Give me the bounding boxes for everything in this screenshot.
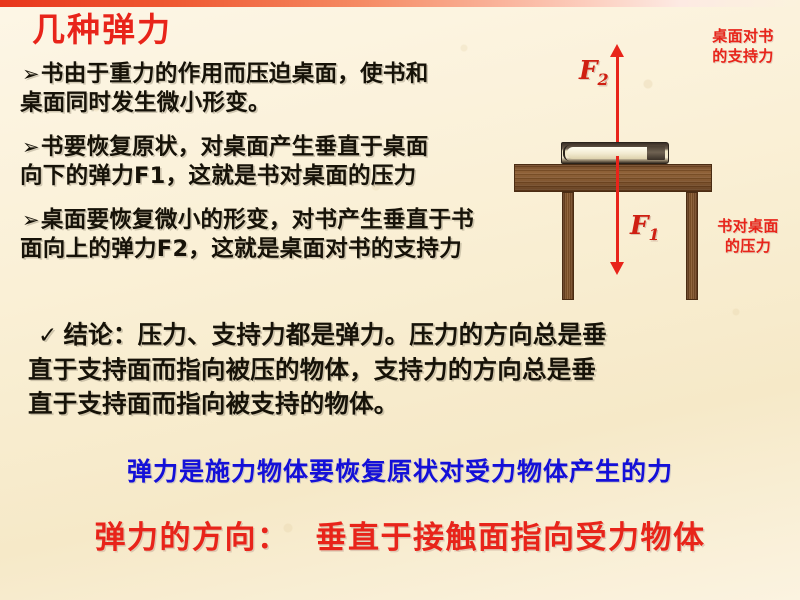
- slide-canvas: 几种弹力 ➢书由于重力的作用而压迫桌面，使书和 桌面同时发生微小形变。 ➢书要恢…: [0, 0, 800, 600]
- page-title: 几种弹力: [32, 12, 172, 48]
- bullet-text-line: 书要恢复原状，对桌面产生垂直于桌面: [41, 134, 429, 160]
- book-pages: [567, 147, 659, 159]
- book-on-table-diagram: 桌面对书 的支持力 书对桌面 的压力 F2 F1: [500, 8, 800, 300]
- list-item: ➢书由于重力的作用而压迫桌面，使书和 桌面同时发生微小形变。: [22, 60, 532, 118]
- support-force-label: 桌面对书 的支持力: [688, 26, 798, 66]
- table-leg-left: [562, 192, 574, 300]
- bullet-text-line: 面向上的弹力F2，这就是桌面对书的支持力: [20, 235, 532, 264]
- force-up-arrow-head-icon: [610, 44, 624, 57]
- bullet-arrow-icon: ➢: [22, 62, 40, 86]
- force-down-symbol: F: [630, 211, 648, 241]
- bullet-text-line: 书由于重力的作用而压迫桌面，使书和: [41, 61, 429, 87]
- bullet-list: ➢书由于重力的作用而压迫桌面，使书和 桌面同时发生微小形变。 ➢书要恢复原状，对…: [22, 60, 532, 279]
- force-up-symbol: F: [579, 56, 597, 86]
- red-statement-value: 垂直于接触面指向受力物体: [316, 520, 706, 556]
- force-down-arrow-head-icon: [610, 262, 624, 275]
- book-illustration: [561, 142, 669, 164]
- force-down-arrow-shaft: [616, 156, 619, 266]
- conclusion-line: 结论：压力、支持力都是弹力。压力的方向总是垂: [63, 320, 606, 349]
- bullet-text-line: 桌面同时发生微小形变。: [20, 89, 532, 118]
- support-force-label-line: 桌面对书: [688, 26, 798, 46]
- red-statement-label: 弹力的方向：: [95, 520, 290, 556]
- check-icon: ✓: [38, 323, 57, 349]
- press-force-label-line: 书对桌面: [698, 216, 798, 236]
- bullet-arrow-icon: ➢: [22, 208, 40, 232]
- list-item: ➢书要恢复原状，对桌面产生垂直于桌面 向下的弹力F1，这就是书对桌面的压力: [22, 133, 532, 191]
- conclusion-line: 直于支持面而指向被支持的物体。: [28, 387, 780, 421]
- force-up-subscript: 2: [597, 70, 608, 89]
- force-down-label: F1: [630, 211, 660, 244]
- support-force-label-line: 的支持力: [688, 46, 798, 66]
- book-edge: [647, 146, 665, 160]
- red-statement: 弹力的方向：垂直于接触面指向受力物体: [0, 512, 800, 557]
- conclusion-line: 直于支持面而指向被压的物体，支持力的方向总是垂: [28, 353, 780, 387]
- bullet-arrow-icon: ➢: [22, 135, 40, 159]
- force-up-label: F2: [579, 56, 609, 89]
- press-force-label-line: 的压力: [698, 236, 798, 256]
- book-spine: [563, 145, 575, 161]
- press-force-label: 书对桌面 的压力: [698, 216, 798, 256]
- force-down-subscript: 1: [648, 225, 659, 244]
- table-leg-right: [686, 192, 698, 300]
- conclusion-block: ✓结论：压力、支持力都是弹力。压力的方向总是垂 直于支持面而指向被压的物体，支持…: [28, 318, 780, 421]
- list-item: ➢桌面要恢复微小的形变，对书产生垂直于书 面向上的弹力F2，这就是桌面对书的支持…: [22, 206, 532, 264]
- top-accent-bar: [0, 0, 800, 7]
- bullet-text-line: 桌面要恢复微小的形变，对书产生垂直于书: [41, 207, 474, 233]
- blue-statement: 弹力是施力物体要恢复原状对受力物体产生的力: [0, 452, 800, 488]
- bullet-text-line: 向下的弹力F1，这就是书对桌面的压力: [20, 162, 532, 191]
- table-top: [514, 164, 712, 192]
